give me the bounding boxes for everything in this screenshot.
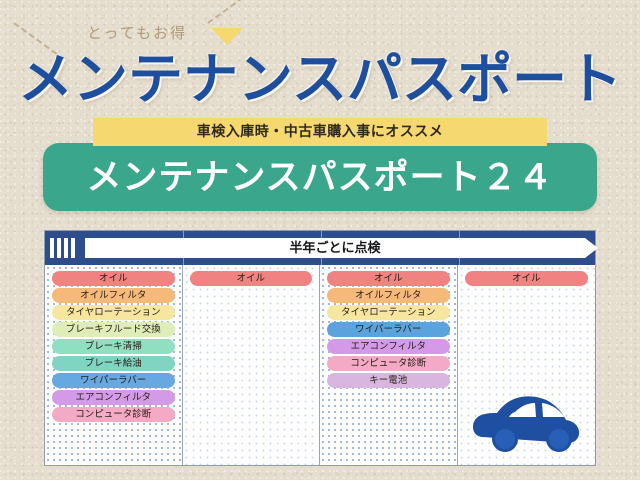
maintenance-item[interactable]: エアコンフィルタ (52, 390, 175, 405)
maintenance-item[interactable]: タイヤローテーション (327, 305, 450, 320)
maintenance-column-1: オイルオイルフィルタタイヤローテーションブレーキフルード交換ブレーキ清掃ブレーキ… (45, 265, 183, 465)
car-icon (469, 391, 589, 457)
maintenance-item[interactable]: ブレーキフルード交換 (52, 322, 175, 337)
maintenance-column-2: オイル (183, 265, 321, 465)
ribbon-pointer-icon (211, 28, 243, 45)
kicker-text: とってもお得 (62, 22, 212, 43)
maintenance-item[interactable]: オイル (465, 271, 589, 286)
kicker-group: とってもお得 (0, 10, 640, 50)
interval-label: 半年ごとに点検 (85, 238, 585, 258)
maintenance-item[interactable]: オイルフィルタ (327, 288, 450, 303)
maintenance-item[interactable]: ブレーキ清掃 (52, 339, 175, 354)
recommendation-ribbon-label: 車検入庫時・中古車購入事にオススメ (93, 118, 547, 146)
maintenance-column-3: オイルオイルフィルタタイヤローテーションワイパーラバーエアコンフィルタコンピュー… (320, 265, 458, 465)
page-title: メンテナンスパスポート (0, 50, 640, 108)
interval-start-bars-icon (50, 238, 82, 258)
kicker-dash-right-icon (207, 0, 258, 24)
product-banner: メンテナンスパスポート２４ (43, 143, 597, 211)
maintenance-item[interactable]: コンピュータ診断 (52, 407, 175, 422)
maintenance-item[interactable]: ワイパーラバー (327, 322, 450, 337)
maintenance-item[interactable]: キー電池 (327, 373, 450, 388)
maintenance-item[interactable]: オイル (190, 271, 313, 286)
maintenance-item[interactable]: エアコンフィルタ (327, 339, 450, 354)
maintenance-item[interactable]: オイル (327, 271, 450, 286)
poster-root: とってもお得 メンテナンスパスポート メンテナンスパスポート２４ 車検入庫時・中… (0, 0, 640, 480)
recommendation-ribbon: 車検入庫時・中古車購入事にオススメ (93, 118, 547, 146)
product-banner-label: メンテナンスパスポート２４ (43, 143, 597, 211)
table-header-row: 半年ごとに点検 (45, 231, 595, 265)
maintenance-item[interactable]: オイル (52, 271, 175, 286)
maintenance-item[interactable]: コンピュータ診断 (327, 356, 450, 371)
maintenance-item[interactable]: タイヤローテーション (52, 305, 175, 320)
maintenance-table: 半年ごとに点検 オイルオイルフィルタタイヤローテーションブレーキフルード交換ブレ… (44, 230, 596, 466)
interval-arrow-icon: 半年ごとに点検 (85, 238, 585, 258)
maintenance-item[interactable]: ブレーキ給油 (52, 356, 175, 371)
maintenance-item[interactable]: ワイパーラバー (52, 373, 175, 388)
maintenance-item[interactable]: オイルフィルタ (52, 288, 175, 303)
